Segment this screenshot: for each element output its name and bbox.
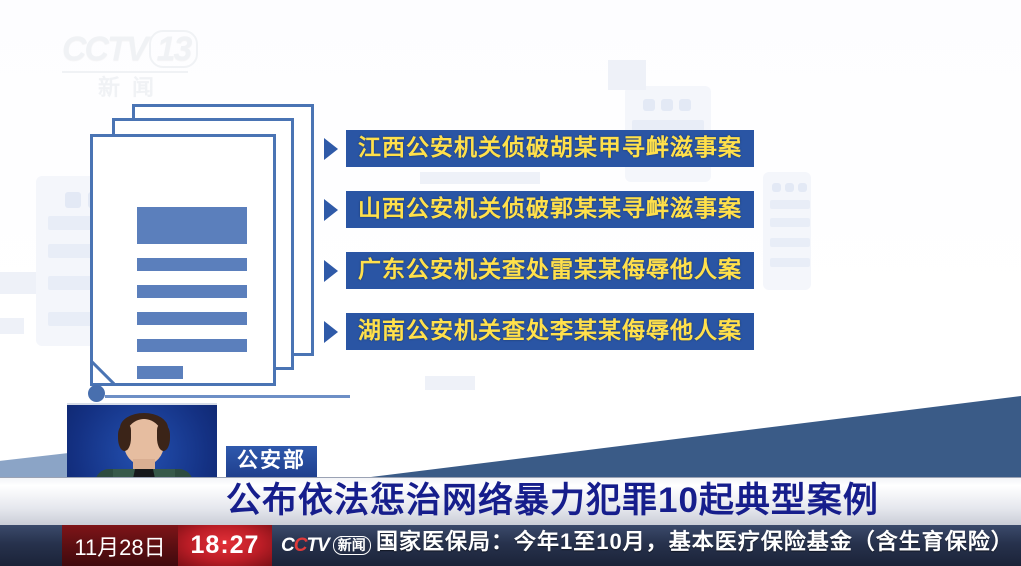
triangle-right-icon [324, 199, 338, 221]
broadcast-screen: 江西公安机关侦破胡某甲寻衅滋事案 山西公安机关侦破郭某某寻衅滋事案 广东公安机关… [0, 0, 1021, 566]
background-ghost-line [770, 200, 810, 209]
background-ghost-strip [608, 60, 646, 90]
document-title-block [137, 207, 247, 244]
ticker-time: 18:27 [178, 525, 272, 566]
background-ghost-line [770, 238, 810, 247]
document-text-line [137, 339, 247, 352]
document-sheet-front [90, 134, 276, 386]
channel-logo-text: CCTV [62, 30, 147, 68]
source-tag: 公安部 [226, 446, 317, 477]
cctv-news-logo: CCTV 新闻 [281, 532, 371, 558]
ticker-headline: 国家医保局：今年1至10月，基本医疗保险基金（含生育保险） [376, 531, 1014, 553]
ticker-date: 11月28日 [62, 525, 178, 566]
background-ghost-dot [643, 99, 655, 111]
case-item-3[interactable]: 广东公安机关查处雷某某侮辱他人案 [324, 252, 754, 289]
case-label: 山西公安机关侦破郭某某寻衅滋事案 [346, 191, 754, 228]
document-stack-icon [88, 104, 328, 394]
background-ghost-line [770, 258, 810, 267]
case-label: 广东公安机关查处雷某某侮辱他人案 [346, 252, 754, 289]
case-label: 江西公安机关侦破胡某甲寻衅滋事案 [346, 130, 754, 167]
background-ghost-dot [772, 183, 781, 192]
document-text-line [137, 366, 183, 379]
triangle-right-icon [324, 138, 338, 160]
channel-logo-row: CCTV13 [62, 30, 202, 68]
background-ghost-dot [65, 192, 81, 208]
cctv-news-badge: 新闻 [333, 536, 371, 555]
channel-logo-number: 13 [149, 30, 199, 68]
interpreter-hair-left [118, 425, 131, 451]
case-item-2[interactable]: 山西公安机关侦破郭某某寻衅滋事案 [324, 191, 754, 228]
page-title: 公布依法惩治网络暴力犯罪10起典型案例 [226, 479, 879, 523]
decorative-underline [105, 395, 350, 398]
channel-logo: CCTV13 新闻 [62, 30, 202, 102]
case-item-1[interactable]: 江西公安机关侦破胡某甲寻衅滋事案 [324, 130, 754, 167]
triangle-right-icon [324, 260, 338, 282]
case-item-4[interactable]: 湖南公安机关查处李某某侮辱他人案 [324, 313, 754, 350]
document-text-line [137, 312, 247, 325]
case-label: 湖南公安机关查处李某某侮辱他人案 [346, 313, 754, 350]
background-ghost-dot [798, 183, 807, 192]
decorative-dot [88, 385, 105, 402]
channel-logo-sub: 新闻 [62, 77, 202, 99]
interpreter-hair-right [157, 425, 170, 451]
background-ghost-strip [420, 172, 540, 184]
background-ghost-strip [425, 376, 475, 390]
background-ghost-strip [0, 318, 24, 334]
background-ghost-line [770, 218, 810, 227]
background-ghost-strip [0, 272, 36, 294]
cctv-wordmark: CCTV [281, 536, 329, 555]
background-ghost-dot [679, 99, 691, 111]
document-fold-edge [93, 351, 125, 383]
document-text-line [137, 285, 247, 298]
channel-logo-underline [62, 71, 188, 73]
triangle-right-icon [324, 321, 338, 343]
background-ghost-dot [661, 99, 673, 111]
document-text-line [137, 258, 247, 271]
background-ghost-dot [785, 183, 794, 192]
